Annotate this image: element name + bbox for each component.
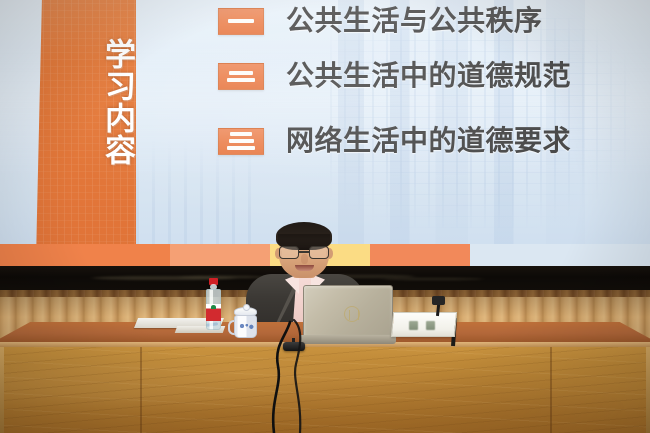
mouth bbox=[295, 265, 314, 271]
numeral-badge-two-icon bbox=[218, 63, 264, 90]
eyeglasses bbox=[278, 246, 330, 259]
projected-slide: 学习内容 公共生活与公共秩序 公共生活中的道德规范 网络生活中的道德要 bbox=[0, 0, 650, 252]
name-plate-glyph bbox=[426, 321, 435, 330]
screenshot-root: 学习内容 公共生活与公共秩序 公共生活中的道德规范 网络生活中的道德要 bbox=[0, 0, 650, 433]
desk-front-panel bbox=[0, 347, 650, 433]
desk-leg bbox=[0, 347, 4, 433]
hp-logo-icon bbox=[344, 306, 360, 322]
slide-title-panel: 学习内容 bbox=[36, 0, 136, 252]
microphone-cable bbox=[250, 318, 320, 433]
bottle-label bbox=[206, 304, 221, 321]
microphone-head bbox=[432, 296, 445, 305]
lens-right bbox=[309, 246, 329, 259]
lens-left bbox=[279, 246, 299, 259]
band-segment-salmon-right bbox=[370, 244, 470, 266]
slide-list-item-3: 网络生活中的道德要求 bbox=[218, 126, 571, 156]
desk-panel-seam bbox=[550, 347, 552, 433]
slide-list-item-1: 公共生活与公共秩序 bbox=[218, 6, 543, 36]
band-segment-orange-left bbox=[0, 244, 170, 266]
desk-panel-seam bbox=[140, 347, 142, 433]
desk-leg bbox=[646, 347, 650, 433]
glasses-bridge bbox=[299, 251, 309, 253]
slide-list-item-2: 公共生活中的道德规范 bbox=[218, 61, 571, 91]
slide-list-item-1-label: 公共生活与公共秩序 bbox=[286, 6, 543, 36]
mug-lid-knob bbox=[243, 304, 250, 311]
slide-title-text: 学习内容 bbox=[36, 2, 136, 202]
numeral-badge-three-icon bbox=[218, 128, 264, 155]
water-bottle bbox=[206, 278, 221, 330]
slide-list-item-2-label: 公共生活中的道德规范 bbox=[286, 61, 571, 91]
desk-name-plate bbox=[392, 312, 462, 342]
slide-list-item-3-label: 网络生活中的道德要求 bbox=[286, 126, 571, 156]
band-segment-pale-blue bbox=[470, 244, 650, 266]
name-plate-glyph bbox=[409, 321, 418, 330]
numeral-badge-one-icon bbox=[218, 8, 264, 35]
slide-background-building-grid bbox=[330, 18, 630, 228]
second-microphone bbox=[432, 296, 448, 316]
cable-path-icon bbox=[250, 318, 320, 433]
